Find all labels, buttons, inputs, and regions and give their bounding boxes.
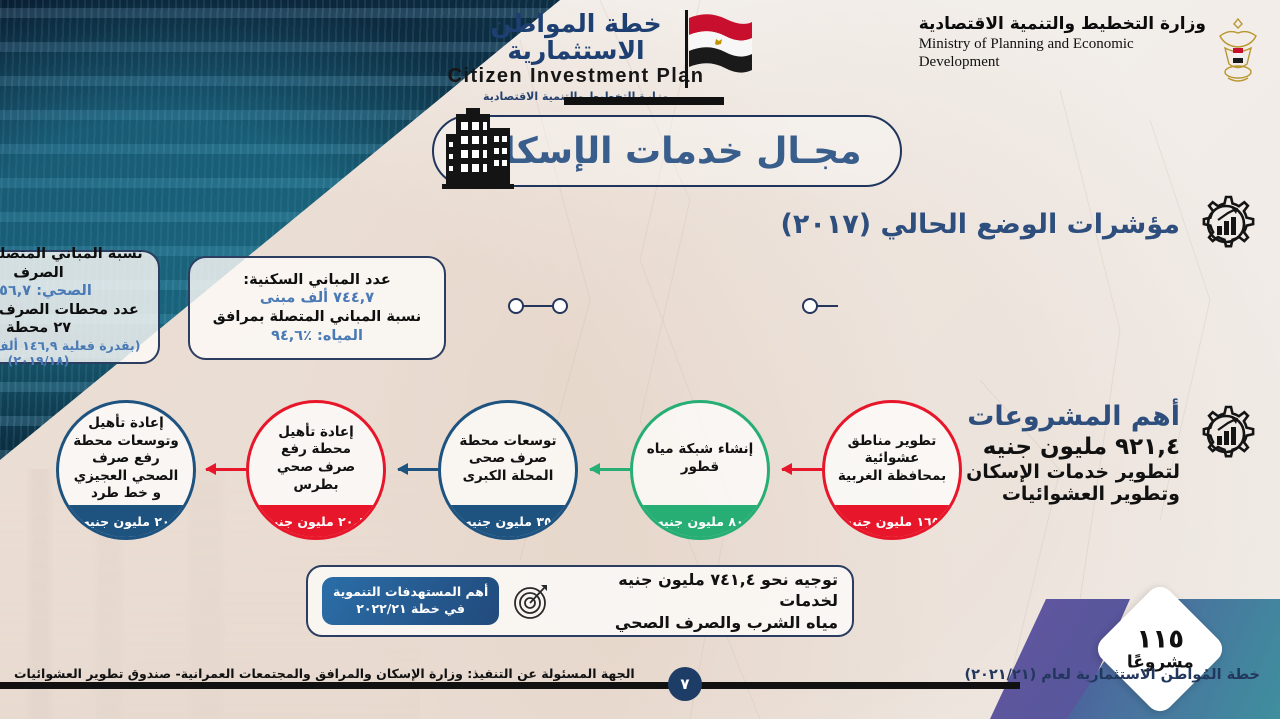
targets-chip-line2: في خطة ٢٠٢٢/٢١: [333, 601, 488, 618]
project-circle-3: توسعات محطة صرف صحى المحلة الكبرى ٣٥ ملي…: [438, 400, 578, 540]
project-title: توسعات محطة صرف صحى المحلة الكبرى: [441, 403, 575, 505]
ministry-name-en-line2: Development: [919, 53, 1206, 71]
targets-chip: أهم المستهدفات التنموية في خطة ٢٠٢٢/٢١: [322, 577, 499, 625]
gear-chart-icon: [1190, 188, 1262, 260]
indicator-line: نسبة المباني المتصلة بمرافق: [213, 308, 421, 327]
connector-knot-2: [508, 298, 524, 314]
indicator-line: عدد المباني السكنية:: [243, 271, 390, 290]
target-text-line1: توجيه نحو ٧٤١,٤ مليون جنيه لخدمات: [563, 569, 838, 612]
projects-heading-text: أهم المشروعات: [966, 402, 1180, 432]
target-text-line2: مياه الشرب والصرف الصحي: [563, 612, 838, 634]
indicator-line: ٧٤٤,٧ ألف مبنى: [260, 289, 374, 308]
indicators-section-header: مؤشرات الوضع الحالي (٢٠١٧): [781, 188, 1262, 260]
indicator-line: (٢٠١٩/١٨): [8, 353, 70, 369]
projects-purpose-line1: لتطوير خدمات الإسكان: [966, 461, 1180, 483]
indicator-box-sanitation: نسبة المباني المتصلة بمرافق الصرف الصحي:…: [0, 250, 160, 364]
development-targets-box: توجيه نحو ٧٤١,٤ مليون جنيه لخدمات مياه ا…: [306, 565, 854, 637]
building-icon: [432, 108, 522, 192]
targets-chip-line1: أهم المستهدفات التنموية: [333, 584, 488, 601]
target-icon: [511, 581, 551, 621]
project-title: إعادة تأهيل محطة رفع صرف صحي بطرس: [249, 403, 383, 505]
indicators-heading-text: مؤشرات الوضع الحالي (٢٠١٧): [781, 209, 1180, 240]
egypt-eagle-emblem-icon: [1216, 14, 1260, 88]
project-circle-5: إعادة تأهيل وتوسعات محطة رفع صرف الصحي ا…: [56, 400, 196, 540]
projects-purpose-line2: وتطوير العشوائيات: [966, 483, 1180, 505]
project-title: إنشاء شبكة مياه قطور: [633, 403, 767, 505]
footer-plan-label: خطة المُواطن الاستثمارية لعام (٢٠٢١/٢١): [965, 667, 1260, 683]
project-circle-1: تطوير مناطق عشوائية بمحافظة الغربية ١٦٥ …: [822, 400, 962, 540]
indicator-line: الصحي: ٥٦,٧ ٪: [0, 282, 92, 301]
indicator-line: عدد محطات الصرف الصحي: ٢٧ محطة: [0, 301, 148, 338]
projects-section-header: أهم المشروعات ٩٢١,٤ مليون جنيه لتطوير خد…: [966, 398, 1262, 506]
flow-arrow-1: [782, 468, 822, 471]
indicator-box-residential-buildings: عدد المباني السكنية: ٧٤٤,٧ ألف مبنى نسبة…: [188, 256, 446, 360]
ministry-name-ar: وزارة التخطيط والتنمية الاقتصادية: [919, 14, 1206, 35]
footer-responsible-entity: الجهة المسئولة عن التنفيذ: وزارة الإسكان…: [14, 666, 635, 681]
flow-arrow-3: [398, 468, 438, 471]
projects-amount-text: ٩٢١,٤ مليون جنيه: [966, 434, 1180, 461]
footer-rule: [0, 682, 1020, 689]
flow-arrow-2: [590, 468, 630, 471]
plan-logo-underline: [564, 97, 724, 105]
target-text: توجيه نحو ٧٤١,٤ مليون جنيه لخدمات مياه ا…: [563, 569, 838, 634]
indicator-line: المياه: ٪٩٤,٦: [271, 327, 363, 346]
project-circle-2: إنشاء شبكة مياه قطور ٨٠ مليون جنيه: [630, 400, 770, 540]
connector-knot-3: [552, 298, 568, 314]
ministry-logo: وزارة التخطيط والتنمية الاقتصادية Minist…: [919, 14, 1260, 88]
indicator-line: نسبة المباني المتصلة بمرافق الصرف: [0, 245, 148, 282]
page-title-text: مجـال خدمات الإسكان: [472, 131, 861, 172]
project-title: إعادة تأهيل وتوسعات محطة رفع صرف الصحي ا…: [59, 403, 193, 505]
infographic-slide: خطة المواطن الاستثمارية Citizen Investme…: [0, 0, 1280, 719]
connector-knot-1: [802, 298, 818, 314]
project-title: تطوير مناطق عشوائية بمحافظة الغربية: [825, 403, 959, 505]
indicator-line: (بقدرة فعلية ١٤٦,٩ ألف م٣/ يوم): [0, 338, 140, 354]
page-number-badge: ٧: [668, 667, 702, 701]
project-circle-4: إعادة تأهيل محطة رفع صرف صحي بطرس ٢٠,١ م…: [246, 400, 386, 540]
egypt-flag-icon: [682, 8, 756, 92]
project-count-number: ١١٥: [1127, 626, 1194, 653]
gear-chart-icon: [1190, 398, 1262, 470]
ministry-name-en-line1: Ministry of Planning and Economic: [919, 35, 1206, 53]
flow-arrow-4: [206, 468, 246, 471]
